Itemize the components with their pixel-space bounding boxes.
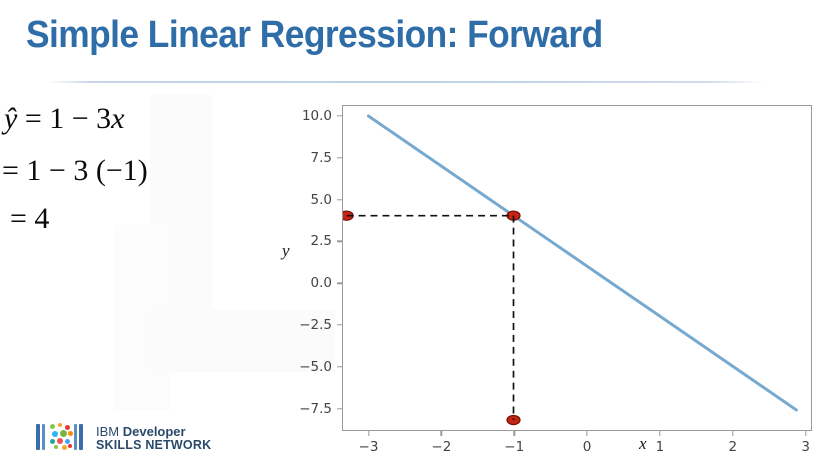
plot-svg	[343, 106, 811, 430]
logo-dot	[65, 425, 70, 430]
logo-dot	[60, 430, 67, 437]
logo-bars-right	[74, 424, 86, 450]
logo-dot	[57, 438, 63, 444]
logo-dot	[50, 424, 55, 429]
equation-block: ŷ = 1 − 3x = 1 − 3 (−1) = 4	[0, 104, 290, 234]
logo-dot	[54, 445, 58, 449]
logo-bar	[79, 424, 83, 450]
title-divider	[48, 81, 765, 83]
x-axis-label: x	[639, 434, 647, 454]
logo-bar	[42, 424, 45, 450]
equation-line-1-equals: =	[25, 102, 42, 135]
regression-plot: y x 10.07.55.02.50.0−2.5−5.0−7.5 −3−2−10…	[260, 95, 832, 455]
equation-line-3: = 4	[10, 204, 290, 234]
equation-line-1-minus: −	[72, 102, 89, 135]
logo-dots-cluster	[49, 423, 73, 451]
logo-dot	[68, 431, 73, 436]
x-tick-mark	[732, 430, 733, 436]
logo-text-primary: IBM Developer	[96, 425, 211, 439]
equation-line-1-const: 1	[49, 102, 64, 135]
x-tick-mark	[441, 430, 442, 436]
equation-line-1-variable: x	[111, 102, 124, 135]
watermark-shape-vertical-secondary	[115, 225, 170, 410]
x-tick-mark	[659, 430, 660, 436]
logo-text-developer: Developer	[123, 424, 186, 439]
x-tick-mark	[514, 430, 515, 436]
logo-bar	[74, 424, 77, 450]
x-tick-mark	[805, 430, 806, 436]
ibm-developer-skills-network-logo: IBM Developer SKILLS NETWORK	[36, 422, 236, 456]
logo-text: IBM Developer SKILLS NETWORK	[96, 422, 211, 452]
logo-bars-left	[36, 424, 48, 450]
equation-line-1: ŷ = 1 − 3x	[4, 104, 290, 134]
logo-mark-icon	[36, 422, 88, 452]
logo-text-ibm: IBM	[96, 424, 123, 439]
logo-text-secondary: SKILLS NETWORK	[96, 439, 211, 452]
logo-bar	[36, 424, 40, 450]
page-title: Simple Linear Regression: Forward	[26, 14, 603, 57]
logo-dot	[50, 439, 55, 444]
equation-line-1-lhs: ŷ	[4, 102, 17, 135]
plot-frame: 10.07.55.02.50.0−2.5−5.0−7.5 −3−2−10123	[342, 105, 812, 431]
y-axis-label: y	[282, 241, 290, 261]
logo-dot	[52, 431, 58, 437]
plot-area	[343, 106, 811, 430]
logo-dot	[62, 445, 67, 450]
equation-line-1-coefficient: 3	[96, 102, 111, 135]
x-tick-mark	[586, 430, 587, 436]
x-tick-mark	[368, 430, 369, 436]
equation-line-2: = 1 − 3 (−1)	[2, 156, 290, 186]
logo-dot	[58, 423, 62, 427]
logo-dot	[68, 444, 72, 448]
regression-line	[368, 116, 796, 410]
